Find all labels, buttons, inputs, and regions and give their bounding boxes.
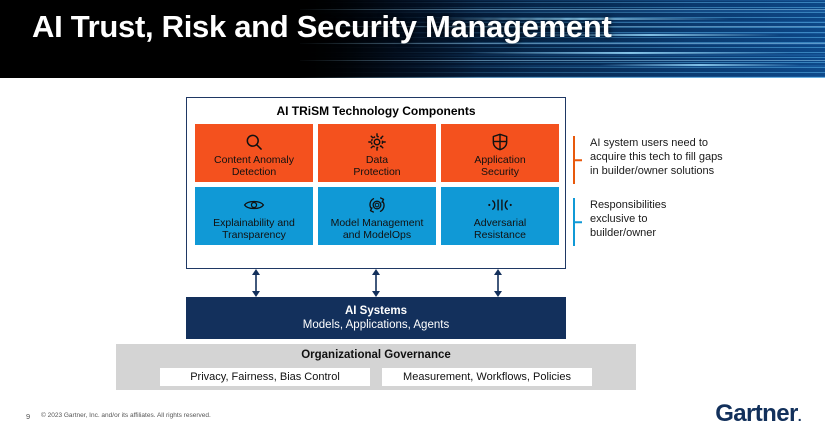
gartner-logo-text: Gartner bbox=[715, 400, 798, 427]
annotation-text: Responsibilities exclusive to builder/ow… bbox=[582, 198, 666, 240]
tile-label: Adversarial Resistance bbox=[471, 217, 530, 241]
ai-systems-subtitle: Models, Applications, Agents bbox=[303, 318, 449, 332]
banner-streak bbox=[600, 64, 800, 66]
signal-resistance-icon bbox=[487, 194, 513, 216]
ai-systems-title: AI Systems bbox=[345, 304, 407, 318]
gartner-logo-dot: . bbox=[798, 408, 801, 424]
tile-adversarial-resistance[interactable]: Adversarial Resistance bbox=[441, 187, 559, 245]
copyright-notice: © 2023 Gartner, Inc. and/or its affiliat… bbox=[41, 412, 211, 419]
tile-content-anomaly-detection[interactable]: Content Anomaly Detection bbox=[195, 124, 313, 182]
shield-grid-icon bbox=[490, 131, 510, 153]
ai-systems-bar: AI Systems Models, Applications, Agents bbox=[186, 297, 566, 339]
tile-label: Application Security bbox=[471, 154, 528, 178]
gear-icon bbox=[367, 131, 387, 153]
annotation-acquire-tech: AI system users need to acquire this tec… bbox=[573, 136, 723, 184]
model-cycle-icon bbox=[367, 194, 387, 216]
annotation-text: AI system users need to acquire this tec… bbox=[582, 136, 723, 178]
tile-explainability-and-transparency[interactable]: Explainability and Transparency bbox=[195, 187, 313, 245]
governance-box-group: Privacy, Fairness, Bias Control Measurem… bbox=[160, 368, 592, 386]
component-tile-row-acquire: Content Anomaly Detection Data Protectio… bbox=[195, 124, 559, 182]
governance-box-measurement[interactable]: Measurement, Workflows, Policies bbox=[382, 368, 592, 386]
connector-arrow-right bbox=[492, 269, 504, 297]
title-banner: AI Trust, Risk and Security Management bbox=[0, 0, 825, 78]
annotation-bracket-blue bbox=[573, 198, 582, 246]
tile-application-security[interactable]: Application Security bbox=[441, 124, 559, 182]
banner-streak bbox=[470, 52, 790, 54]
tile-label: Explainability and Transparency bbox=[210, 217, 298, 241]
connector-arrow-center bbox=[370, 269, 382, 297]
tile-label: Content Anomaly Detection bbox=[211, 154, 297, 178]
governance-title: Organizational Governance bbox=[116, 349, 636, 361]
tile-label: Model Management and ModelOps bbox=[328, 217, 427, 241]
gartner-logo: Gartner. bbox=[715, 400, 801, 428]
component-tile-grid: Content Anomaly Detection Data Protectio… bbox=[195, 124, 559, 245]
tile-model-management-and-modelops[interactable]: Model Management and ModelOps bbox=[318, 187, 436, 245]
eye-icon bbox=[243, 194, 265, 216]
annotation-builder-owner: Responsibilities exclusive to builder/ow… bbox=[573, 198, 666, 246]
trism-components-panel: AI TRiSM Technology Components Content A… bbox=[186, 97, 566, 269]
annotation-bracket-orange bbox=[573, 136, 582, 184]
tile-label: Data Protection bbox=[350, 154, 403, 178]
magnifier-icon bbox=[244, 131, 264, 153]
tile-data-protection[interactable]: Data Protection bbox=[318, 124, 436, 182]
page-number: 9 bbox=[26, 412, 30, 421]
connector-arrow-left bbox=[250, 269, 262, 297]
page-title: AI Trust, Risk and Security Management bbox=[32, 9, 611, 45]
governance-box-privacy[interactable]: Privacy, Fairness, Bias Control bbox=[160, 368, 370, 386]
organizational-governance-section: Organizational Governance Privacy, Fairn… bbox=[116, 344, 636, 390]
panel-heading: AI TRiSM Technology Components bbox=[187, 104, 565, 118]
component-tile-row-exclusive: Explainability and Transparency bbox=[195, 187, 559, 245]
